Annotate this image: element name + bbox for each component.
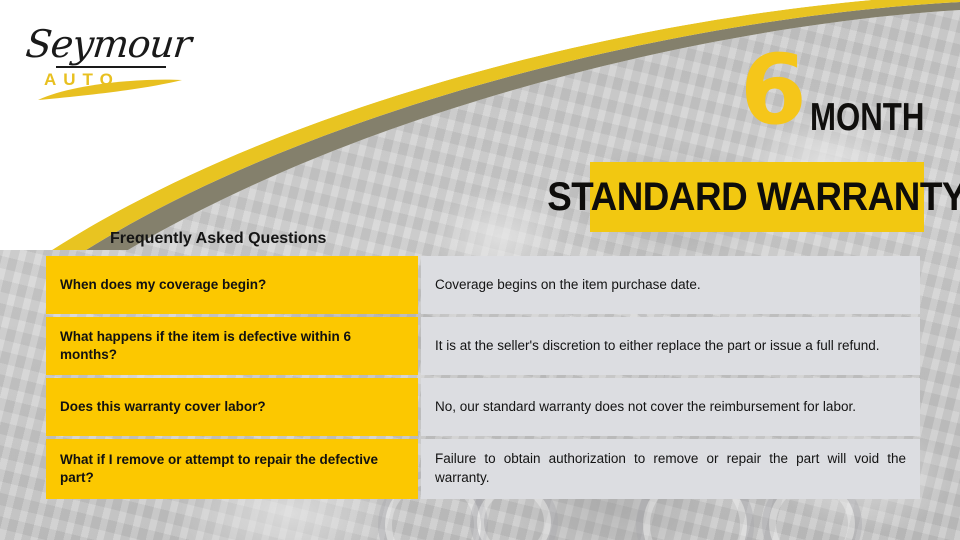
- seymour-auto-logo: Seymour AUTO: [20, 14, 200, 106]
- faq-answer: It is at the seller's discretion to eith…: [421, 317, 920, 375]
- standard-warranty-banner: STANDARD WARRANTY: [590, 162, 924, 232]
- faq-question: What if I remove or attempt to repair th…: [46, 439, 418, 499]
- faq-answer: Failure to obtain authorization to remov…: [421, 439, 920, 499]
- table-row: Does this warranty cover labor? No, our …: [46, 378, 920, 436]
- table-row: What happens if the item is defective wi…: [46, 317, 920, 375]
- logo-swoosh-icon: [20, 14, 200, 106]
- faq-answer: No, our standard warranty does not cover…: [421, 378, 920, 436]
- warranty-term-unit: MONTH: [810, 96, 924, 140]
- standard-warranty-banner-text: STANDARD WARRANTY: [548, 175, 960, 220]
- faq-question: Does this warranty cover labor?: [46, 378, 418, 436]
- faq-question: When does my coverage begin?: [46, 256, 418, 314]
- faq-heading: Frequently Asked Questions: [110, 230, 326, 248]
- faq-table: When does my coverage begin? Coverage be…: [46, 256, 920, 499]
- warranty-term-number: 6: [740, 42, 803, 138]
- warranty-slide: Seymour AUTO 6 MONTH STANDARD WARRANTY F…: [0, 0, 960, 540]
- faq-answer: Coverage begins on the item purchase dat…: [421, 256, 920, 314]
- table-row: What if I remove or attempt to repair th…: [46, 439, 920, 499]
- table-row: When does my coverage begin? Coverage be…: [46, 256, 920, 314]
- faq-question: What happens if the item is defective wi…: [46, 317, 418, 375]
